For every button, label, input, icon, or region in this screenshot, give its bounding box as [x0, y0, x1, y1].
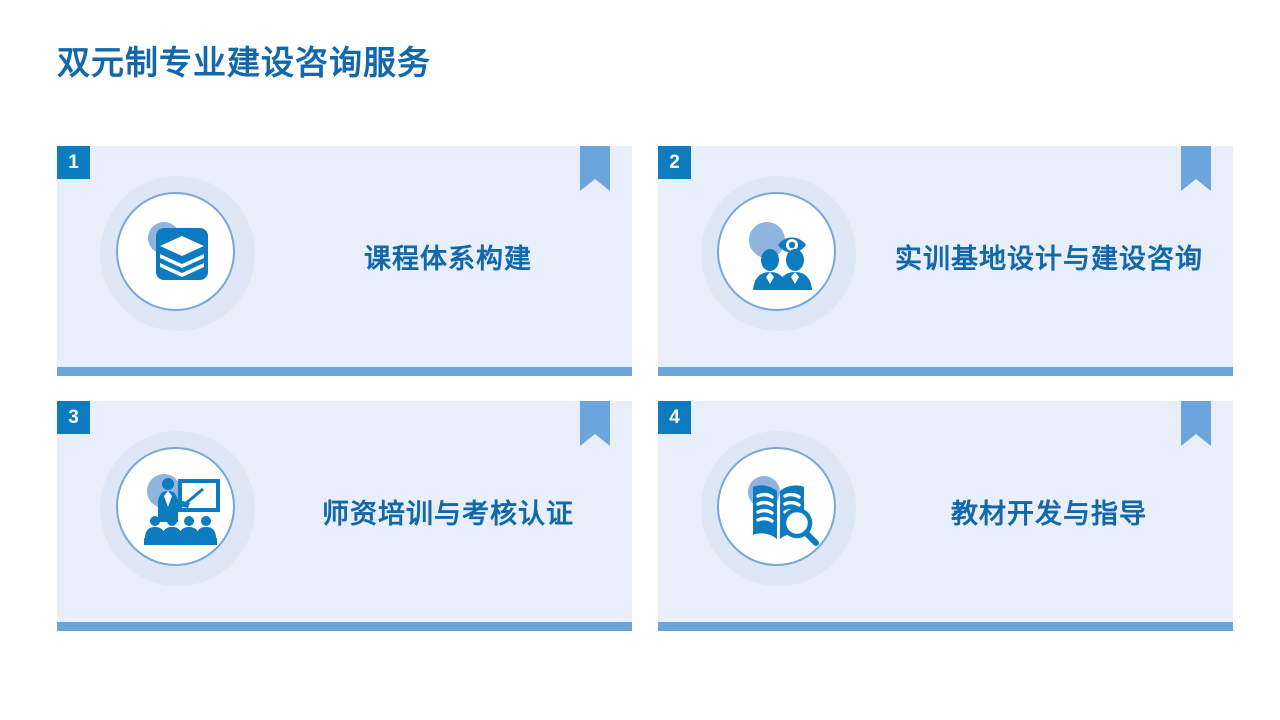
service-card-3[interactable]: 3	[57, 401, 632, 631]
card-number-badge: 1	[57, 146, 90, 179]
card-number-badge: 2	[658, 146, 691, 179]
card-icon-medallion	[100, 176, 255, 331]
bookmark-icon	[1181, 401, 1211, 446]
bookmark-icon	[580, 146, 610, 191]
service-card-2[interactable]: 2	[658, 146, 1233, 376]
card-number-badge: 3	[57, 401, 90, 434]
card-title: 课程体系构建	[272, 146, 624, 367]
card-accent-bar	[658, 622, 1233, 631]
training-presentation-icon	[128, 459, 227, 558]
card-title: 师资培训与考核认证	[272, 401, 624, 622]
card-accent-bar	[57, 622, 632, 631]
book-search-icon	[729, 459, 828, 558]
card-icon-medallion	[701, 431, 856, 586]
bookmark-icon	[580, 401, 610, 446]
service-card-4[interactable]: 4	[658, 401, 1233, 631]
bookmark-icon	[1181, 146, 1211, 191]
card-accent-bar	[57, 367, 632, 376]
people-eye-icon	[729, 204, 828, 303]
service-card-grid: 1 课程体系构建 2	[57, 146, 1223, 628]
layers-icon	[128, 204, 227, 303]
card-icon-medallion	[100, 431, 255, 586]
card-icon-medallion	[701, 176, 856, 331]
card-title: 教材开发与指导	[873, 401, 1225, 622]
service-card-1[interactable]: 1 课程体系构建	[57, 146, 632, 376]
page-title: 双元制专业建设咨询服务	[57, 36, 431, 84]
card-accent-bar	[658, 367, 1233, 376]
card-number-badge: 4	[658, 401, 691, 434]
card-title: 实训基地设计与建设咨询	[873, 146, 1225, 367]
